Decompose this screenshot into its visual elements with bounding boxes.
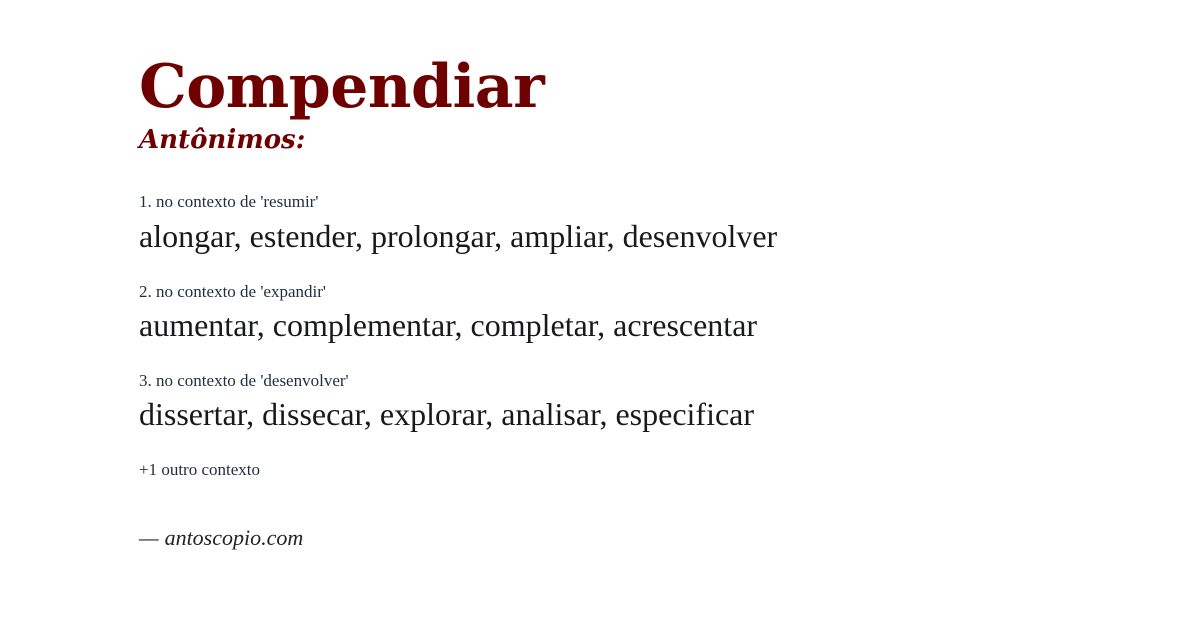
sense-context-label: 2. no contexto de 'expandir' [139, 282, 1136, 302]
sense-antonym-list: aumentar, complementar, completar, acres… [139, 306, 1136, 345]
section-label-antonyms: Antônimos: [139, 126, 1136, 155]
page-title: Compendiar [139, 56, 1136, 120]
em-dash: — [139, 525, 159, 550]
sense-list: 1. no contexto de 'resumir' alongar, est… [139, 192, 1136, 434]
sense-antonym-list: dissertar, dissecar, explorar, analisar,… [139, 395, 1136, 434]
source-site: antoscopio.com [165, 525, 304, 550]
sense-entry: 2. no contexto de 'expandir' aumentar, c… [139, 282, 1136, 345]
card-header: Compendiar Antônimos: [139, 0, 1136, 154]
footer-attribution: —antoscopio.com [139, 525, 1136, 551]
sense-entry: 3. no contexto de 'desenvolver' disserta… [139, 371, 1136, 434]
more-contexts-note: +1 outro contexto [139, 460, 1136, 480]
sense-entry: 1. no contexto de 'resumir' alongar, est… [139, 192, 1136, 255]
sense-context-label: 3. no contexto de 'desenvolver' [139, 371, 1136, 391]
antonyms-card: Compendiar Antônimos: 1. no contexto de … [0, 0, 1200, 628]
sense-antonym-list: alongar, estender, prolongar, ampliar, d… [139, 217, 1136, 256]
sense-context-label: 1. no contexto de 'resumir' [139, 192, 1136, 212]
